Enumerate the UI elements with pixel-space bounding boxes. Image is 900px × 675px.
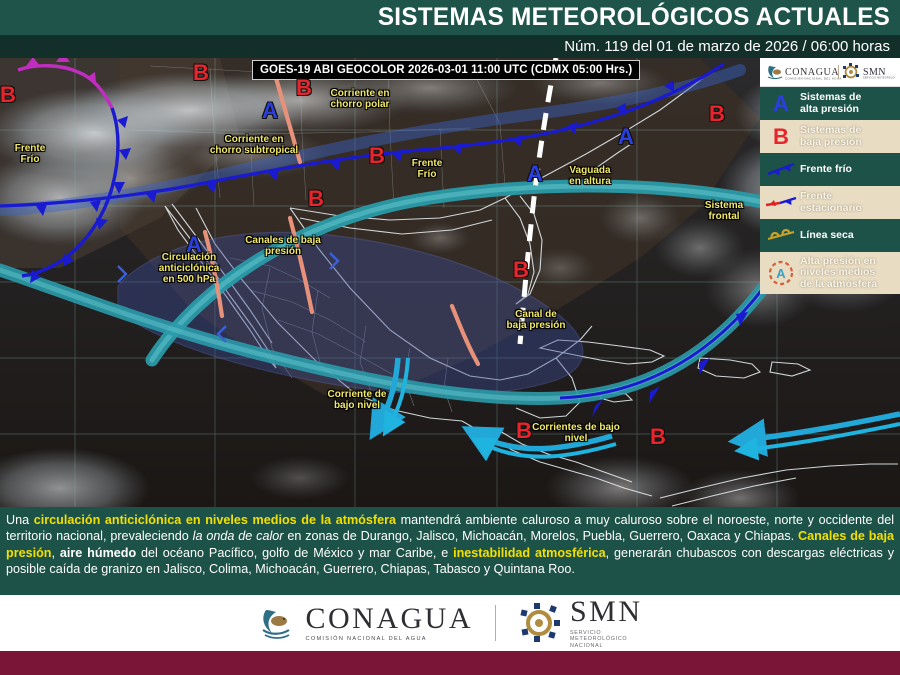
footer-divider (495, 605, 496, 641)
legend-item-3[interactable]: Frente frío (760, 153, 900, 186)
legend-item-label: Línea seca (800, 230, 854, 242)
svg-text:A: A (776, 266, 786, 281)
page-title: SISTEMAS METEOROLÓGICOS ACTUALES (378, 2, 890, 33)
desc-emphasis: la onda de calor (193, 529, 284, 543)
legend-item-5[interactable]: Línea seca (760, 219, 900, 252)
conagua-tagline: COMISIÓN NACIONAL DEL AGUA (305, 636, 473, 642)
svg-text:COMISIÓN NACIONAL DEL AGUA: COMISIÓN NACIONAL DEL AGUA (785, 75, 842, 80)
legend-item-label: Frente estacionario (800, 191, 862, 214)
smn-wordmark: SMN (570, 597, 643, 627)
legend-item-4[interactable]: Frente estacionario (760, 186, 900, 219)
stationary-front-icon (762, 187, 800, 218)
desc-emphasis: inestabilidad atmosférica (453, 546, 606, 560)
dry-line-icon (762, 220, 800, 251)
legend-item-2[interactable]: BSistemas de baja presión (760, 120, 900, 153)
legend-item-label: Sistemas de baja presión (800, 125, 862, 148)
letter-a-icon: A (762, 88, 800, 119)
conagua-wordmark: CONAGUA (305, 604, 473, 634)
footer-branding: CONAGUA COMISIÓN NACIONAL DEL AGUA SMN S… (0, 595, 900, 651)
conagua-logo-icon (257, 603, 297, 643)
legend-item-6[interactable]: AAlta presión en niveles medios de la at… (760, 252, 900, 294)
legend-item-label: Sistemas de alta presión (800, 92, 861, 115)
forecast-description-text: Una circulación anticiclónica en niveles… (6, 512, 894, 578)
legend-item-label: Frente frío (800, 164, 852, 176)
weather-bulletin-page: SISTEMAS METEOROLÓGICOS ACTUALES Núm. 11… (0, 0, 900, 675)
letter-b-icon: B (762, 121, 800, 152)
legend-item-1[interactable]: ASistemas de alta presión (760, 87, 900, 120)
mid-level-high-icon: A (762, 258, 800, 289)
conagua-logo-group: CONAGUA COMISIÓN NACIONAL DEL AGUA (257, 603, 473, 643)
bulletin-number-date: Núm. 119 del 01 de marzo de 2026 / 06:00… (564, 35, 890, 58)
satellite-image-title: GOES-19 ABI GEOCOLOR 2026-03-01 11:00 UT… (252, 60, 640, 80)
cold-front-icon (762, 154, 800, 185)
smn-logo-icon (518, 602, 562, 644)
forecast-description-panel: Una circulación anticiclónica en niveles… (0, 507, 900, 595)
smn-tagline: SERVICIO METEOROLÓGICO NACIONAL (570, 630, 643, 649)
legend-brand-header: CONAGUA COMISIÓN NACIONAL DEL AGUA SMN S… (760, 58, 900, 87)
desc-emphasis: circulación anticiclónica en niveles med… (34, 513, 396, 527)
desc-emphasis: aire húmedo (60, 546, 136, 560)
svg-text:SERVICIO METEOROLÓGICO: SERVICIO METEOROLÓGICO (863, 77, 895, 80)
bottom-accent-bar (0, 651, 900, 675)
map-legend: CONAGUA COMISIÓN NACIONAL DEL AGUA SMN S… (760, 58, 900, 294)
svg-text:SMN: SMN (863, 67, 886, 78)
desc-emphasis: Canales de baja presión (6, 529, 894, 559)
smn-logo-group: SMN SERVICIO METEOROLÓGICO NACIONAL (518, 597, 643, 649)
legend-rows: ASistemas de alta presiónBSistemas de ba… (760, 87, 900, 294)
conagua-smn-logo-small: CONAGUA COMISIÓN NACIONAL DEL AGUA SMN S… (765, 62, 895, 82)
legend-item-label: Alta presión en niveles medios de la atm… (800, 256, 877, 291)
